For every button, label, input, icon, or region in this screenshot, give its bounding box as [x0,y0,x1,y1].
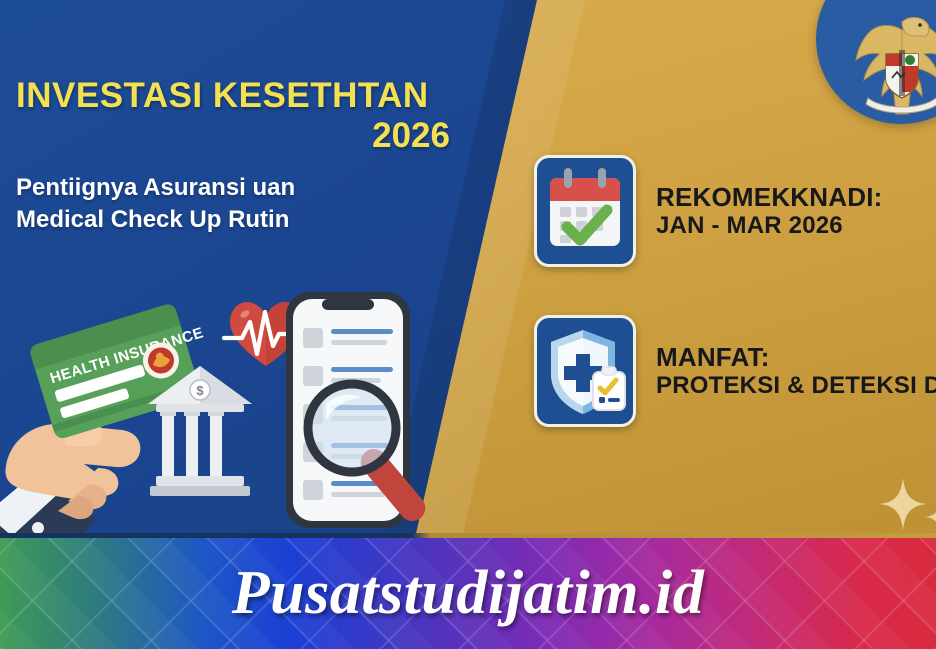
info-card-benefit-text: MANFAT: PROTEKSI & DETEKSI DINI [656,342,936,401]
svg-text:$: $ [196,383,204,398]
card-2-line-1: MANFAT: [656,342,936,373]
info-card-recommendation-text: REKOMEKKNADI: JAN - MAR 2026 [656,182,882,241]
headline-line-2: 2026 [16,114,486,158]
subtitle-line-1: Pentiignya Asuransi uan [16,172,436,204]
infographic-poster: INVESTASI KESETHTAN 2026 Pentiignya Asur… [0,0,936,649]
subtitle-line-2: Medical Check Up Rutin [16,204,436,236]
page-title: INVESTASI KESETHTAN 2026 [16,78,486,157]
calendar-check-icon [534,155,636,267]
shield-medical-icon [534,315,636,427]
subtitle: Pentiignya Asuransi uan Medical Check Up… [16,172,436,235]
website-banner: Pusatstudijatim.id [0,538,936,649]
card-2-line-2: PROTEKSI & DETEKSI DINI [656,372,936,400]
healthcare-illustration: HEALTH INSURANCE [0,280,470,538]
poster-top-area: INVESTASI KESETHTAN 2026 Pentiignya Asur… [0,0,936,538]
sparkle-icon [880,478,926,535]
headline-line-1: INVESTASI KESETHTAN [16,78,486,114]
info-card-benefit: MANFAT: PROTEKSI & DETEKSI DINI [534,315,936,427]
card-1-line-2: JAN - MAR 2026 [656,212,882,240]
info-card-recommendation: REKOMEKKNADI: JAN - MAR 2026 [534,155,882,267]
hand-holding-card [0,419,140,538]
site-name: Pusatstudijatim.id [0,538,936,649]
card-1-line-1: REKOMEKKNADI: [656,182,882,213]
